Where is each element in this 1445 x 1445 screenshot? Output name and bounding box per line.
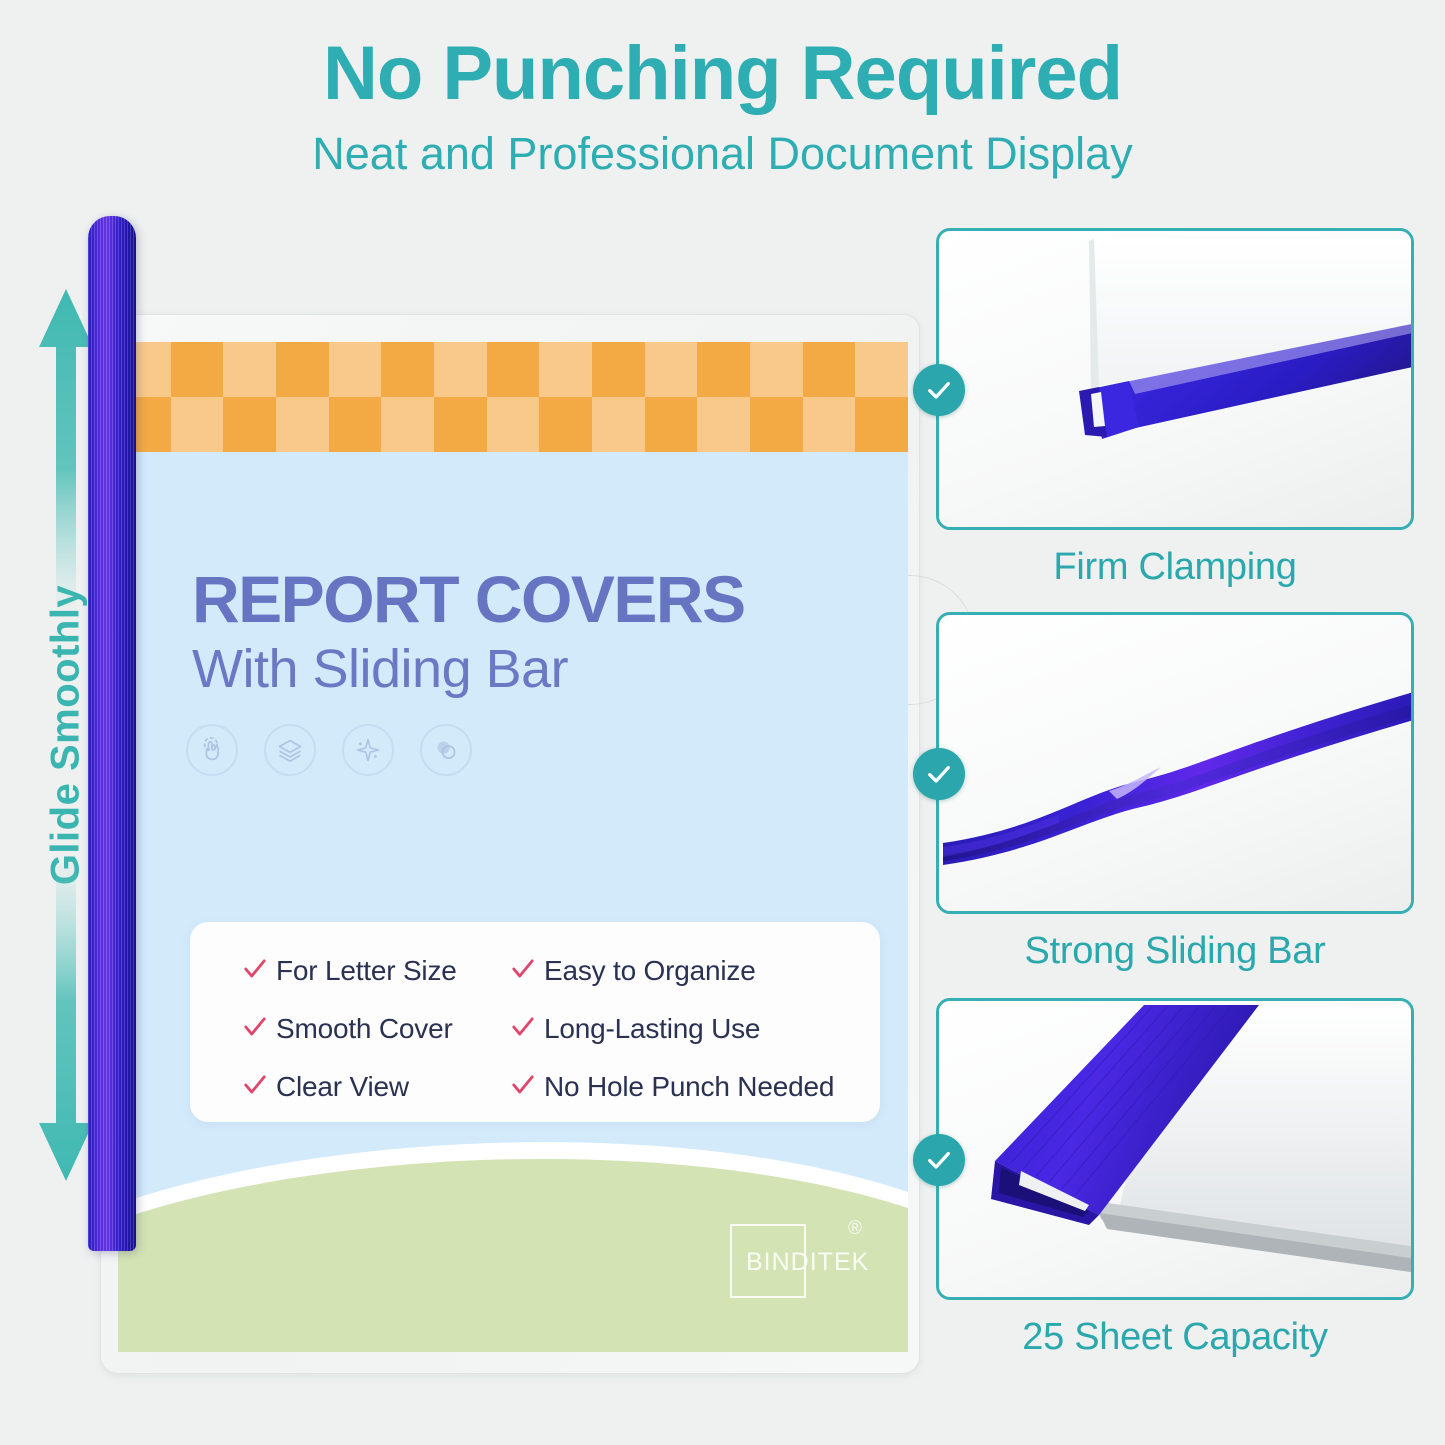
checker-cell	[539, 342, 592, 397]
panel-frame	[936, 228, 1414, 530]
checker-cell	[487, 397, 540, 452]
checklist-item-label: Smooth Cover	[276, 1013, 453, 1045]
checker-cell	[803, 342, 856, 397]
check-icon	[242, 1072, 276, 1103]
check-icon	[510, 956, 544, 987]
checklist-item-label: Clear View	[276, 1071, 409, 1103]
checker-cell	[803, 397, 856, 452]
checklist-item-label: For Letter Size	[276, 955, 457, 987]
checker-cell	[750, 397, 803, 452]
product-title: REPORT COVERS	[192, 566, 745, 632]
checker-cell	[750, 342, 803, 397]
checker-cell	[487, 342, 540, 397]
page-headline: No Punching Required	[0, 0, 1445, 114]
check-icon	[242, 956, 276, 987]
checklist-item-label: Easy to Organize	[544, 955, 756, 987]
product-mockup: REPORT COVERS With Sliding Bar	[88, 216, 928, 1386]
checker-cell	[855, 342, 908, 397]
blue-sliding-bar	[88, 216, 136, 1251]
twisted-blue-sliding-bar-photo	[939, 615, 1411, 911]
feature-panel-firm-clamping: Firm Clamping	[936, 228, 1414, 589]
check-icon	[242, 1014, 276, 1045]
printed-cover-page: REPORT COVERS With Sliding Bar	[118, 342, 908, 1352]
feature-icon-row	[186, 724, 472, 776]
checker-cell	[171, 397, 224, 452]
checklist-item: Long-Lasting Use	[510, 1000, 880, 1058]
page-subheadline: Neat and Professional Document Display	[0, 114, 1445, 180]
checklist-item-label: Long-Lasting Use	[544, 1013, 760, 1045]
header: No Punching Required Neat and Profession…	[0, 0, 1445, 180]
checker-cell	[855, 397, 908, 452]
checker-cell	[276, 397, 329, 452]
blue-bar-clamping-paper-stack-photo	[939, 1001, 1411, 1297]
checker-cell	[434, 397, 487, 452]
glide-smoothly-label: Glide Smoothly	[44, 585, 89, 885]
checker-cell	[539, 397, 592, 452]
panel-frame	[936, 612, 1414, 914]
checklist-item: For Letter Size	[242, 942, 510, 1000]
checklist-item: No Hole Punch Needed	[510, 1058, 880, 1116]
checker-cell	[276, 342, 329, 397]
checker-cell	[697, 342, 750, 397]
panel-caption: 25 Sheet Capacity	[936, 1300, 1414, 1359]
checker-cell	[434, 342, 487, 397]
checklist-grid: For Letter SizeEasy to OrganizeSmooth Co…	[190, 942, 880, 1116]
feature-panel-sheet-capacity: 25 Sheet Capacity	[936, 998, 1414, 1359]
checklist-item: Easy to Organize	[510, 942, 880, 1000]
brand-logo: BINDITEK ®	[730, 1218, 870, 1298]
check-badge-icon	[913, 748, 965, 800]
panel-caption: Strong Sliding Bar	[936, 914, 1414, 973]
feature-checklist-card: For Letter SizeEasy to OrganizeSmooth Co…	[190, 922, 880, 1122]
checker-cell	[223, 342, 276, 397]
checker-cell	[329, 342, 382, 397]
checker-cell	[697, 397, 750, 452]
checker-cell	[223, 397, 276, 452]
checker-cell	[381, 397, 434, 452]
logo-text: BINDITEK	[746, 1248, 869, 1277]
sparkle-icon	[342, 724, 394, 776]
checklist-item: Smooth Cover	[242, 1000, 510, 1058]
layers-stack-icon	[264, 724, 316, 776]
overlapping-circles-icon	[420, 724, 472, 776]
checklist-item: Clear View	[242, 1058, 510, 1116]
checker-cell	[171, 342, 224, 397]
clear-cover-with-blue-bar-clamped-photo	[939, 231, 1411, 527]
check-badge-icon	[913, 1134, 965, 1186]
checker-cell	[592, 342, 645, 397]
checklist-item-label: No Hole Punch Needed	[544, 1071, 834, 1103]
checker-cell	[329, 397, 382, 452]
touch-hand-icon	[186, 724, 238, 776]
registered-trademark-icon: ®	[848, 1218, 862, 1240]
feature-panel-strong-sliding-bar: Strong Sliding Bar	[936, 612, 1414, 973]
checker-cell	[645, 397, 698, 452]
product-subtitle: With Sliding Bar	[192, 642, 568, 696]
check-icon	[510, 1072, 544, 1103]
arrow-down-icon	[38, 855, 94, 1185]
panel-frame	[936, 998, 1414, 1300]
check-icon	[510, 1014, 544, 1045]
checker-cell	[381, 342, 434, 397]
checker-cell	[592, 397, 645, 452]
panel-caption: Firm Clamping	[936, 530, 1414, 589]
check-badge-icon	[913, 364, 965, 416]
arrow-up-icon	[38, 285, 94, 615]
checkered-header-band	[118, 342, 908, 452]
checker-cell	[645, 342, 698, 397]
